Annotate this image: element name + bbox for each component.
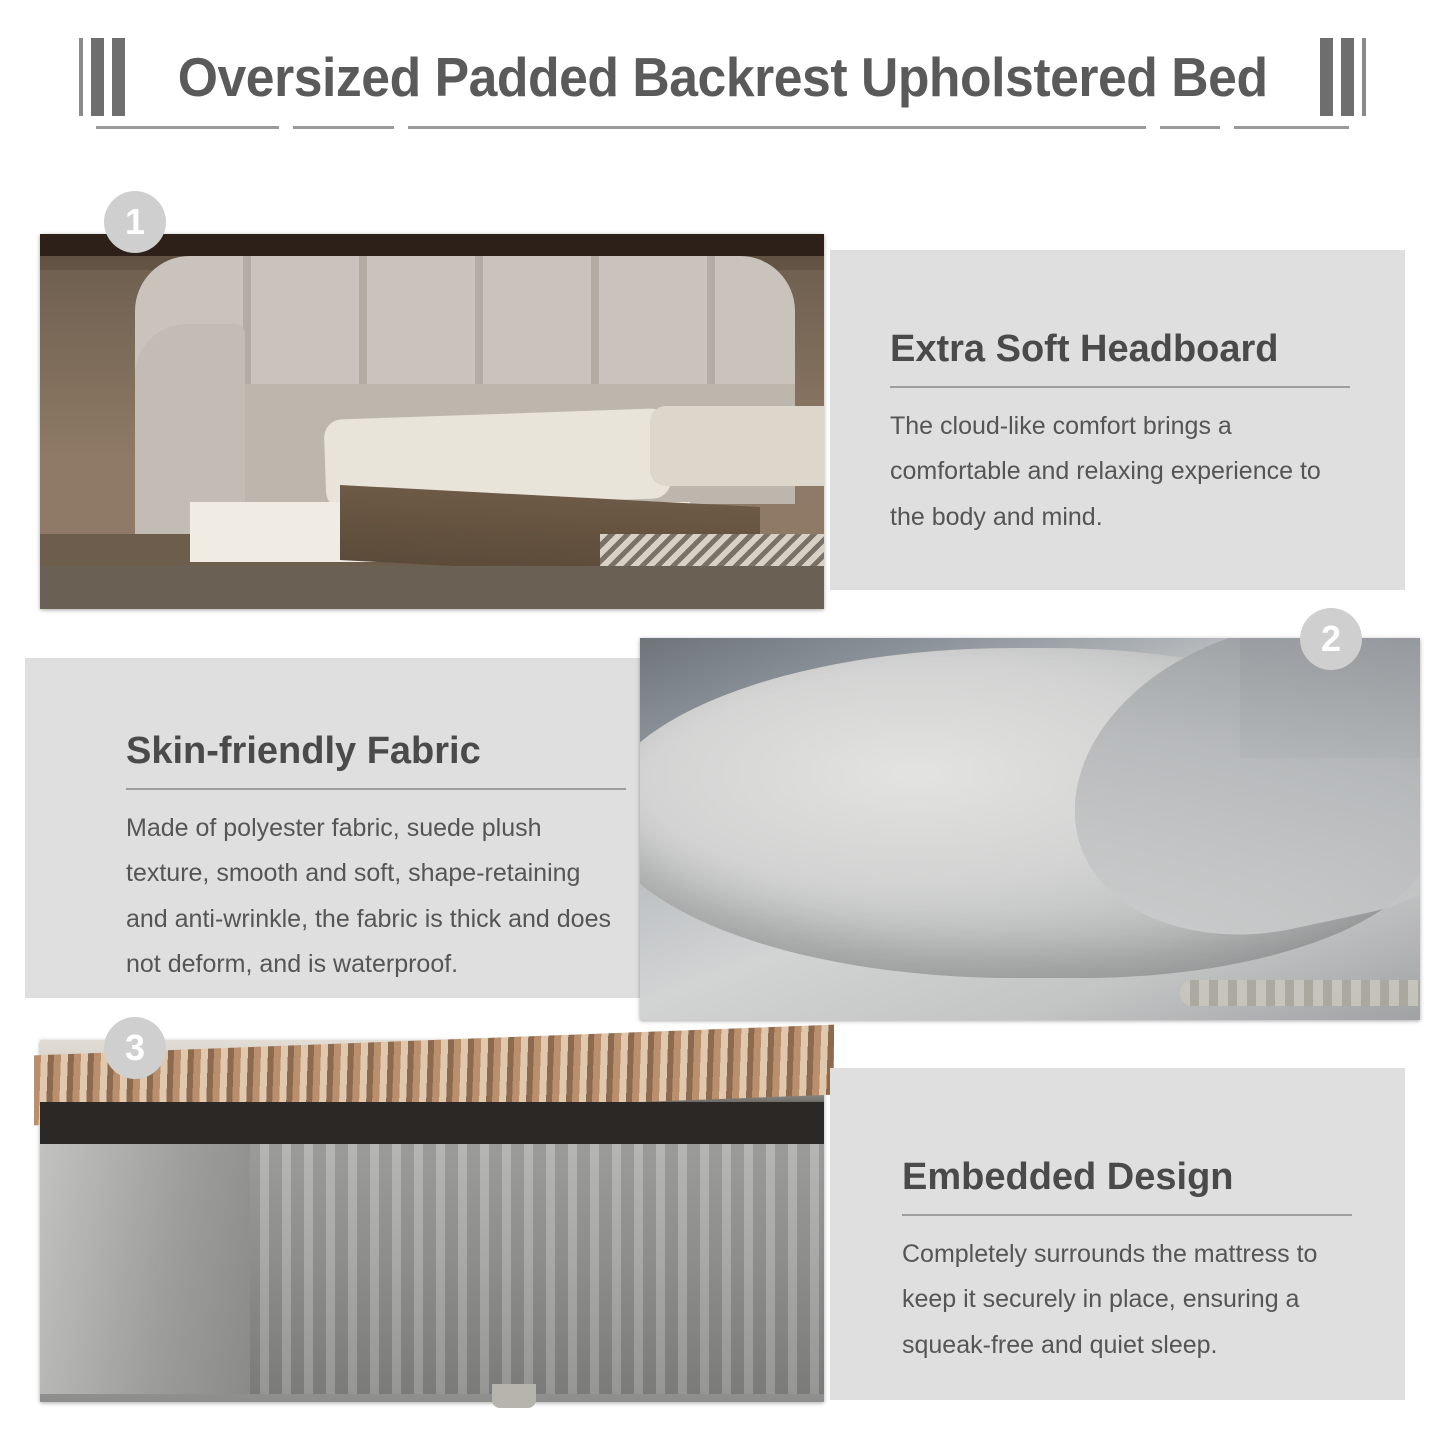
feature-rule-2 (126, 788, 626, 790)
feature-image-frame-corner (40, 1040, 824, 1402)
ornament-bar-thin-icon (79, 38, 83, 116)
feature-body-2: Made of polyester fabric, suede plush te… (126, 806, 626, 988)
feature-panel-1-content: Extra Soft Headboard The cloud-like comf… (890, 328, 1350, 540)
feature-rule-1 (890, 386, 1350, 388)
page-title: Oversized Padded Backrest Upholstered Be… (178, 38, 1268, 116)
floor (40, 566, 824, 609)
title-divider (96, 126, 1349, 129)
page-header: Oversized Padded Backrest Upholstered Be… (0, 0, 1445, 150)
feature-title-3: Embedded Design (902, 1156, 1352, 1200)
feature-panel-1: Extra Soft Headboard The cloud-like comf… (830, 250, 1405, 590)
feature-badge-2: 2 (1300, 608, 1362, 670)
feature-body-1: The cloud-like comfort brings a comforta… (890, 404, 1350, 541)
left-ornament-bars (75, 38, 129, 116)
ornament-bar-thin-icon (1362, 38, 1366, 116)
rail-corner (40, 1144, 250, 1394)
feature-image-fabric (640, 638, 1420, 1020)
feature-panel-3: Embedded Design Completely surrounds the… (830, 1068, 1405, 1400)
feature-badge-3: 3 (104, 1017, 166, 1079)
right-ornament-bars (1316, 38, 1370, 116)
fabric-seam (1180, 980, 1420, 1006)
feature-title-2: Skin-friendly Fabric (126, 730, 626, 774)
feature-image-headboard (40, 234, 824, 609)
divider-segment (1234, 126, 1349, 129)
bed-leg (492, 1384, 536, 1408)
divider-segment (96, 126, 279, 129)
pillow (650, 406, 824, 486)
feature-panel-2-content: Skin-friendly Fabric Made of polyester f… (126, 730, 626, 988)
ornament-bar-thick-icon (1320, 38, 1333, 116)
feature-badge-1: 1 (104, 191, 166, 253)
divider-segment (1160, 126, 1220, 129)
feature-panel-2: Skin-friendly Fabric Made of polyester f… (25, 658, 640, 998)
feature-panel-3-content: Embedded Design Completely surrounds the… (902, 1156, 1352, 1368)
feature-body-3: Completely surrounds the mattress to kee… (902, 1232, 1352, 1369)
divider-segment (408, 126, 1146, 129)
feature-title-1: Extra Soft Headboard (890, 328, 1350, 372)
feature-rule-3 (902, 1214, 1352, 1216)
divider-segment (293, 126, 394, 129)
ornament-bar-thick-icon (91, 38, 104, 116)
ornament-bar-thick-icon (1341, 38, 1354, 116)
title-row: Oversized Padded Backrest Upholstered Be… (0, 38, 1445, 116)
ornament-bar-thick-icon (112, 38, 125, 116)
